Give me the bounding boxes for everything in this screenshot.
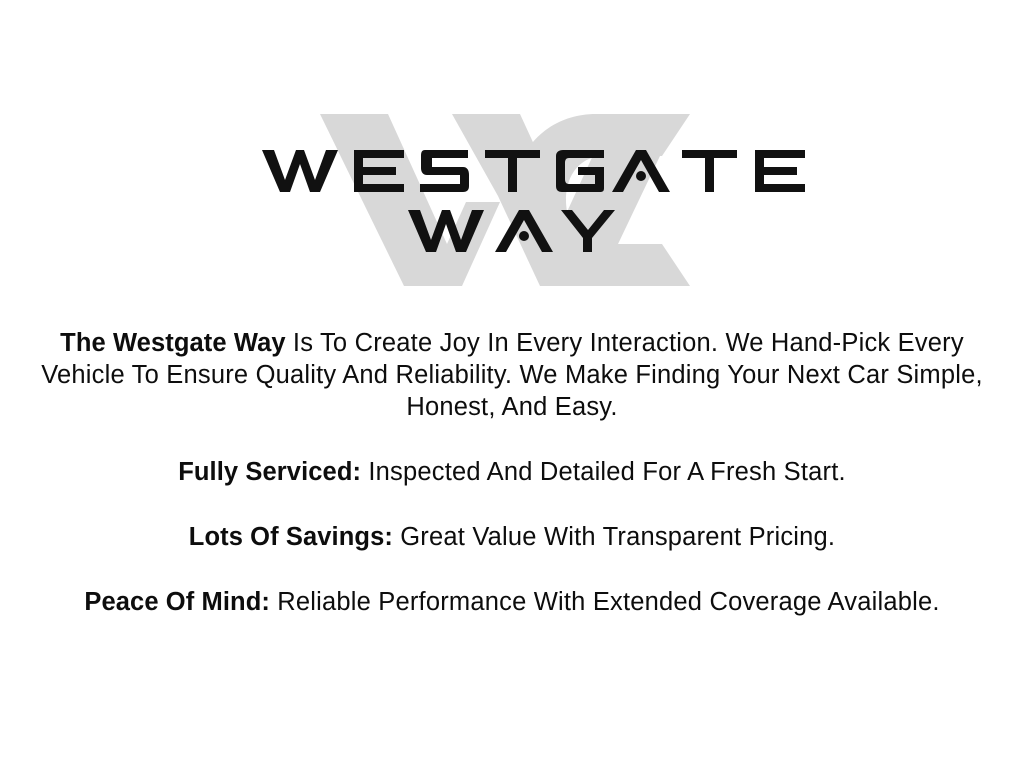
body-copy: The Westgate Way Is To Create Joy In Eve… [12,327,1012,618]
point-text-lots-of-savings: Great Value With Transparent Pricing. [393,523,835,551]
intro-lead: The Westgate Way [60,329,285,357]
spacer-3 [12,553,1012,586]
spacer-1 [12,423,1012,456]
point-peace-of-mind: Peace Of Mind: Reliable Performance With… [12,586,1012,618]
westgate-way-wordmark-icon [0,96,1024,296]
logo-wordmark [0,96,1024,296]
point-lots-of-savings: Lots Of Savings: Great Value With Transp… [12,521,1012,553]
slide-canvas: The Westgate Way Is To Create Joy In Eve… [0,0,1024,768]
point-label-peace-of-mind: Peace Of Mind: [84,588,270,616]
point-fully-serviced: Fully Serviced: Inspected And Detailed F… [12,456,1012,488]
point-label-lots-of-savings: Lots Of Savings: [189,523,393,551]
point-text-peace-of-mind: Reliable Performance With Extended Cover… [270,588,940,616]
logo-block [0,96,1024,296]
spacer-2 [12,488,1012,521]
point-text-fully-serviced: Inspected And Detailed For A Fresh Start… [361,458,846,486]
point-label-fully-serviced: Fully Serviced: [178,458,361,486]
intro-paragraph: The Westgate Way Is To Create Joy In Eve… [12,327,1012,423]
